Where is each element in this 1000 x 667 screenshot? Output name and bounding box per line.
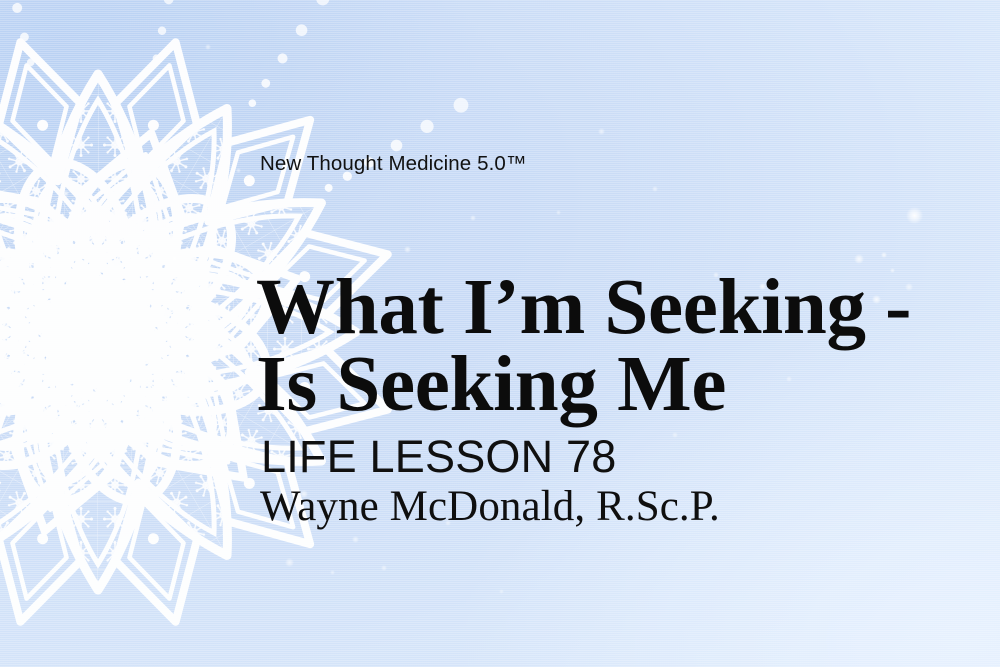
title-text-block: New Thought Medicine 5.0™ What I’m Seeki… (260, 0, 980, 667)
brand-eyebrow: New Thought Medicine 5.0™ (260, 152, 527, 176)
author-byline: Wayne McDonald, R.Sc.P. (260, 482, 720, 531)
page-title-line-2: Is Seeking Me (256, 346, 1000, 423)
slide-canvas: New Thought Medicine 5.0™ What I’m Seeki… (0, 0, 1000, 667)
lesson-subtitle: LIFE LESSON 78 (261, 431, 616, 483)
page-title: What I’m Seeking - Is Seeking Me (256, 269, 1000, 424)
page-title-line-1: What I’m Seeking - (256, 269, 1000, 346)
